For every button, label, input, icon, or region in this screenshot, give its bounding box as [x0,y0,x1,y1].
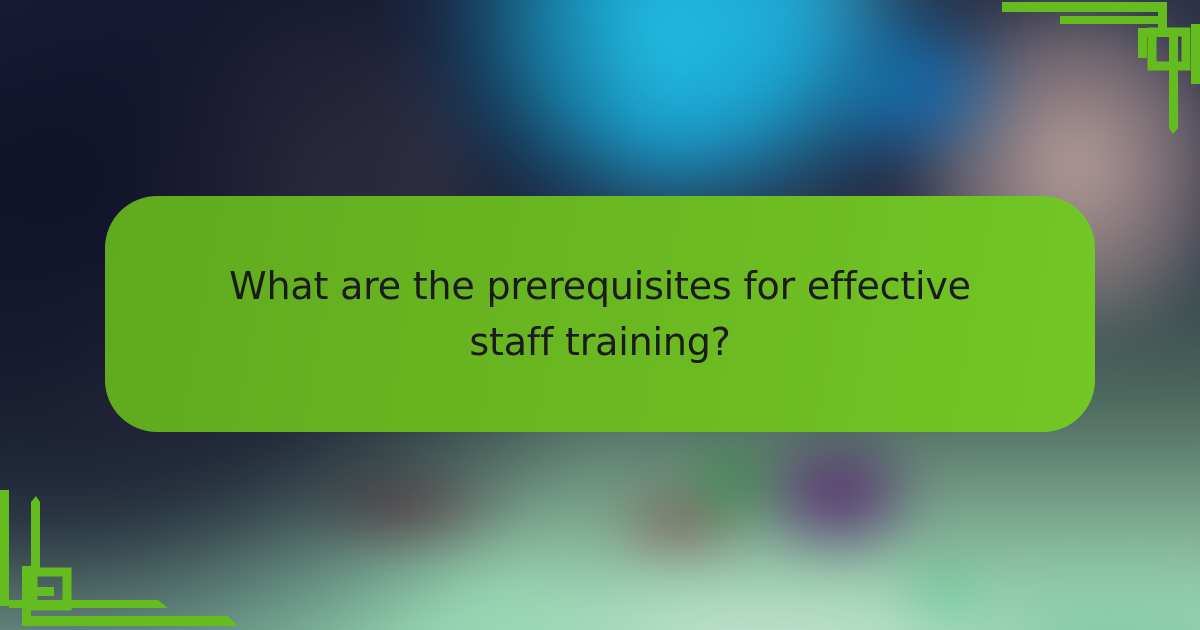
question-text: What are the prerequisites for effective… [223,258,977,370]
screenshot-canvas: What are the prerequisites for effective… [0,0,1200,630]
question-card[interactable]: What are the prerequisites for effective… [105,196,1095,432]
